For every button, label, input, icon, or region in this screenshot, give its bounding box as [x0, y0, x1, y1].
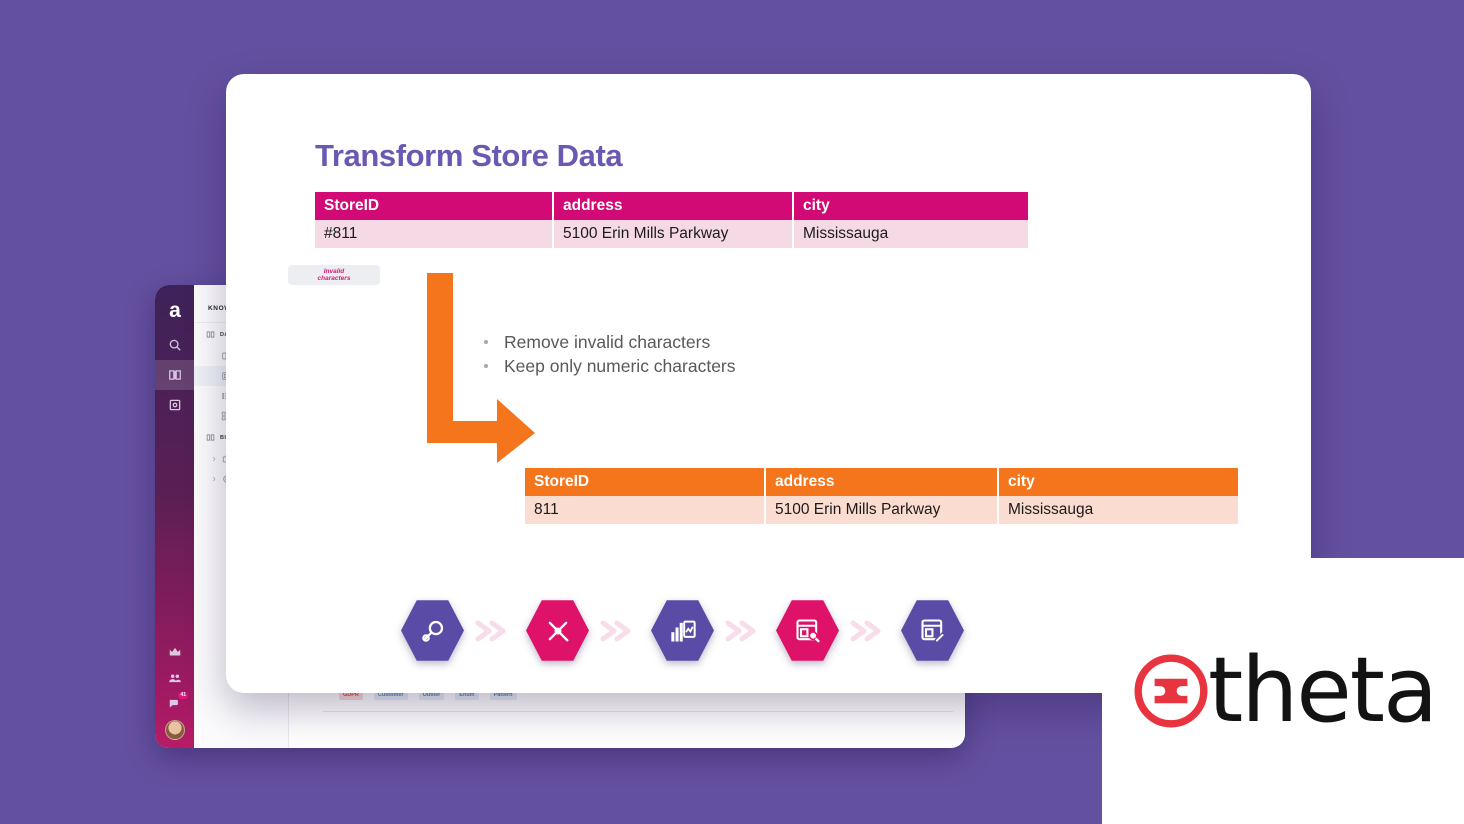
- chevron-separator: [464, 618, 526, 644]
- pipeline-step-prepare[interactable]: [526, 599, 589, 662]
- theta-wordmark: theta: [1208, 650, 1436, 732]
- column-header-storeid: StoreID: [315, 192, 553, 220]
- pipeline-steps: [401, 599, 964, 662]
- rail-bottom-group: 41: [155, 639, 194, 742]
- theta-logo-panel: theta: [1102, 558, 1464, 824]
- document-search-icon: [794, 617, 822, 645]
- app-logo[interactable]: a: [155, 292, 194, 330]
- table-row: 811 5100 Erin Mills Parkway Mississauga: [525, 496, 1238, 524]
- chevron-separator: [839, 618, 901, 644]
- bullet-text: Keep only numeric characters: [504, 354, 736, 378]
- column-header-storeid: StoreID: [525, 468, 765, 496]
- cell-address: 5100 Erin Mills Parkway: [765, 496, 998, 524]
- document-edit-icon: [919, 617, 947, 645]
- avatar[interactable]: [165, 720, 185, 740]
- list-item: Remove invalid characters: [484, 330, 736, 354]
- app-icon-rail: a: [155, 285, 194, 748]
- column-header-address: address: [765, 468, 998, 496]
- table-before-transform: StoreID address city #811 5100 Erin Mill…: [315, 192, 1028, 248]
- column-header-city: city: [793, 192, 1028, 220]
- badge-line1: Invalid: [324, 268, 345, 275]
- page-title: Transform Store Data: [315, 138, 622, 174]
- search-icon[interactable]: [155, 330, 194, 360]
- bullet-dot-icon: [484, 364, 488, 368]
- chart-report-icon: [669, 617, 697, 645]
- bullet-dot-icon: [484, 340, 488, 344]
- cell-storeid: 811: [525, 496, 765, 524]
- book-icon[interactable]: [155, 360, 194, 390]
- badge-line2: characters: [318, 275, 351, 282]
- cell-address: 5100 Erin Mills Parkway: [553, 220, 793, 248]
- chat-badge: 41: [178, 692, 188, 699]
- cell-city: Mississauga: [793, 220, 1028, 248]
- pipeline-step-analyze[interactable]: [651, 599, 714, 662]
- chevron-separator: [714, 618, 776, 644]
- crown-icon[interactable]: [155, 639, 194, 665]
- invalid-characters-badge: Invalid characters: [288, 265, 380, 285]
- box-icon[interactable]: [155, 390, 194, 420]
- bullet-text: Remove invalid characters: [504, 330, 710, 354]
- pipeline-step-govern[interactable]: [901, 599, 964, 662]
- pipeline-step-discover[interactable]: [401, 599, 464, 662]
- pipeline-step-monitor[interactable]: [776, 599, 839, 662]
- divider: [323, 711, 953, 712]
- chevron-separator: [589, 618, 651, 644]
- table-row: #811 5100 Erin Mills Parkway Mississauga: [315, 220, 1028, 248]
- cell-city: Mississauga: [998, 496, 1238, 524]
- chat-icon[interactable]: 41: [155, 691, 194, 717]
- theta-mark-icon: [1130, 650, 1212, 732]
- bullet-list: Remove invalid characters Keep only nume…: [484, 330, 736, 378]
- cell-storeid: #811: [315, 220, 553, 248]
- table-header-row: StoreID address city: [525, 468, 1238, 496]
- tools-icon: [544, 617, 572, 645]
- column-header-city: city: [998, 468, 1238, 496]
- column-header-address: address: [553, 192, 793, 220]
- magnifier-icon: [419, 617, 447, 645]
- group-icon[interactable]: [155, 665, 194, 691]
- table-header-row: StoreID address city: [315, 192, 1028, 220]
- table-after-transform: StoreID address city 811 5100 Erin Mills…: [525, 468, 1238, 524]
- list-item: Keep only numeric characters: [484, 354, 736, 378]
